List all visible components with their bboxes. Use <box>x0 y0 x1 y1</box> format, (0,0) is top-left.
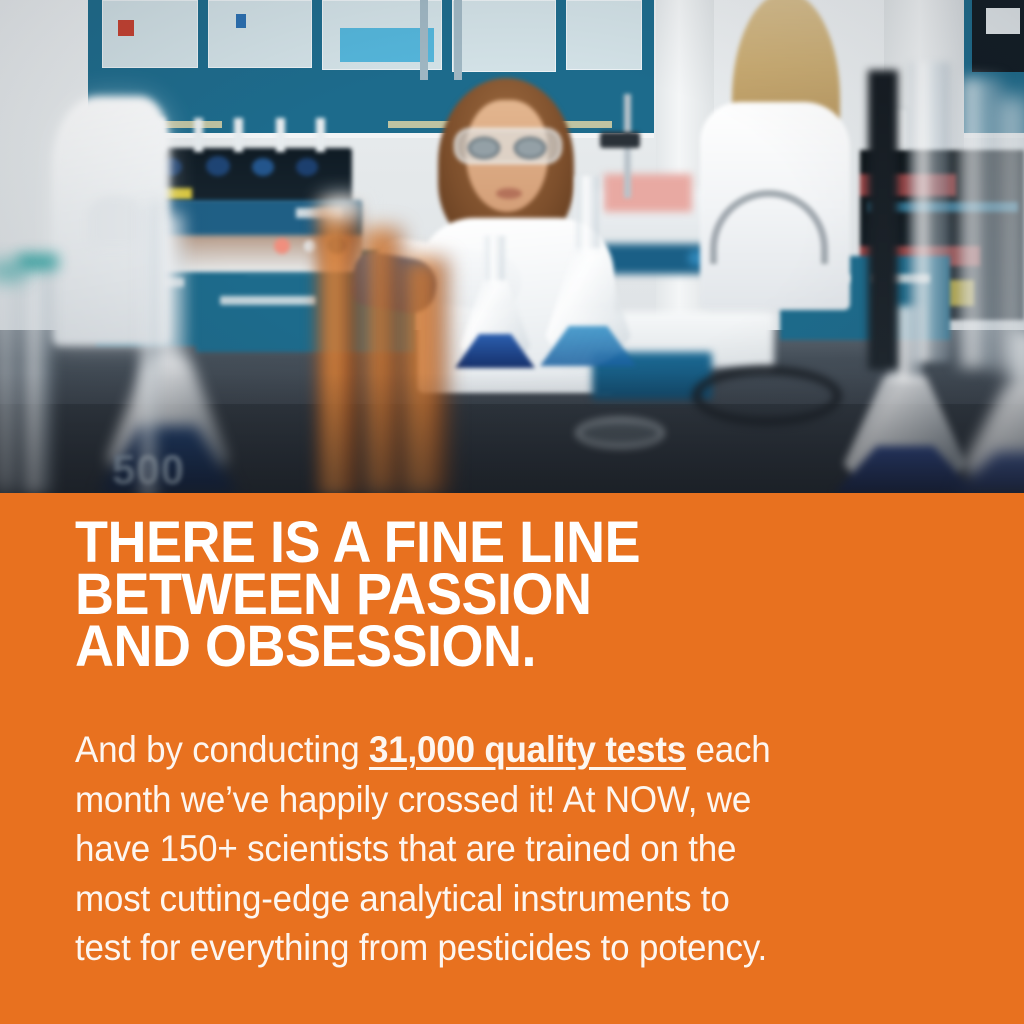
amber-column-3 <box>400 258 448 493</box>
scientist-center-mouth <box>496 188 522 199</box>
orange-text-panel: THERE IS A FINE LINE BETWEEN PASSION AND… <box>0 493 1024 1024</box>
body-line-1-pre: And by conducting <box>75 729 369 770</box>
instrument-vial-rack <box>150 118 340 152</box>
petri-dish <box>576 418 664 448</box>
body-line-2: month we’ve happily crossed it! At NOW, … <box>75 775 907 825</box>
black-shelf-post <box>868 70 898 370</box>
erlenmeyer-flask-clear-center <box>536 176 640 366</box>
safety-goggles-icon <box>454 128 562 164</box>
body-line-4: most cutting-edge analytical instruments… <box>75 874 907 924</box>
quality-tests-emphasis: 31,000 quality tests <box>369 729 686 770</box>
graduated-cylinder-right-3 <box>996 96 1024 372</box>
body-line-1-post: each <box>686 729 771 770</box>
body-line-3: have 150+ scientists that are trained on… <box>75 824 907 874</box>
amber-column-cap <box>322 196 362 218</box>
graduated-cylinder-left-1 <box>22 262 52 493</box>
body-line-1: And by conducting 31,000 quality tests e… <box>75 725 907 775</box>
pipette-stand-left <box>140 200 158 493</box>
headline-line-3: AND OBSESSION. <box>75 621 912 673</box>
cable-bundle <box>692 366 842 426</box>
headline: THERE IS A FINE LINE BETWEEN PASSION AND… <box>75 517 975 673</box>
social-graphic-card: 500 THERE IS A FINE LI <box>0 0 1024 1024</box>
amber-column-2 <box>362 228 402 493</box>
body-line-5: test for everything from pesticides to p… <box>75 923 907 973</box>
graduated-cylinder-left-2 <box>0 272 20 493</box>
erlenmeyer-flask-blue <box>452 236 538 368</box>
cylinder-cap-teal-2 <box>0 264 26 278</box>
volumetric-flask-right-2 <box>948 332 1024 493</box>
scientist-right <box>700 0 860 322</box>
lab-photo: 500 <box>0 0 1024 493</box>
amber-column-1 <box>316 204 360 493</box>
body-copy: And by conducting 31,000 quality tests e… <box>75 725 955 973</box>
